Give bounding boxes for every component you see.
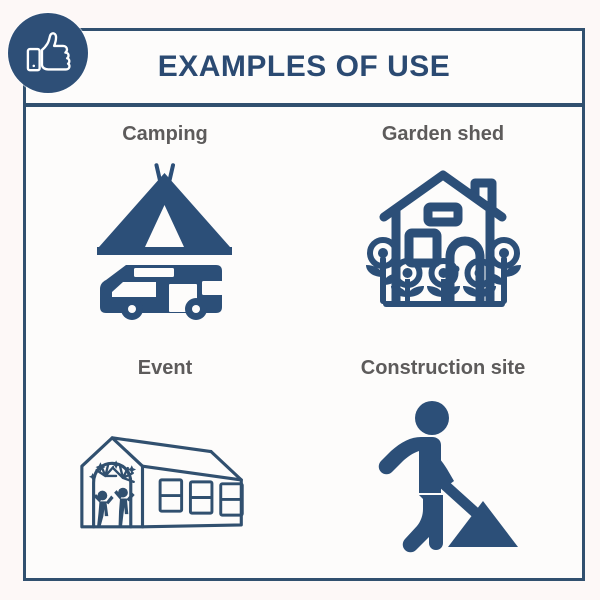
example-label-garden-shed: Garden shed [382, 123, 504, 146]
example-art-event [76, 390, 254, 560]
example-label-camping: Camping [122, 123, 208, 146]
house-with-flowers-icon [361, 161, 526, 321]
example-label-construction-site: Construction site [361, 357, 525, 380]
title-divider [24, 103, 585, 107]
example-label-event: Event [138, 357, 192, 380]
example-art-garden-shed [354, 156, 532, 326]
thumbs-up-badge [8, 13, 88, 93]
page-title: EXAMPLES OF USE [158, 50, 451, 84]
marquee-tent-with-people-icon [76, 404, 254, 546]
tent-and-camper-van-icon [90, 161, 240, 321]
thumbs-up-icon [24, 28, 74, 78]
worker-with-shovel-icon [363, 395, 523, 555]
example-cell-event: Event [26, 344, 304, 578]
example-art-construction-site [354, 390, 532, 560]
example-cell-garden-shed: Garden shed [304, 110, 582, 344]
example-cell-construction-site: Construction site [304, 344, 582, 578]
poster: EXAMPLES OF USE Camping [0, 0, 600, 600]
title-bar: EXAMPLES OF USE [23, 28, 585, 106]
example-art-camping [76, 156, 254, 326]
example-cell-camping: Camping [26, 110, 304, 344]
examples-grid: Camping [26, 110, 582, 578]
